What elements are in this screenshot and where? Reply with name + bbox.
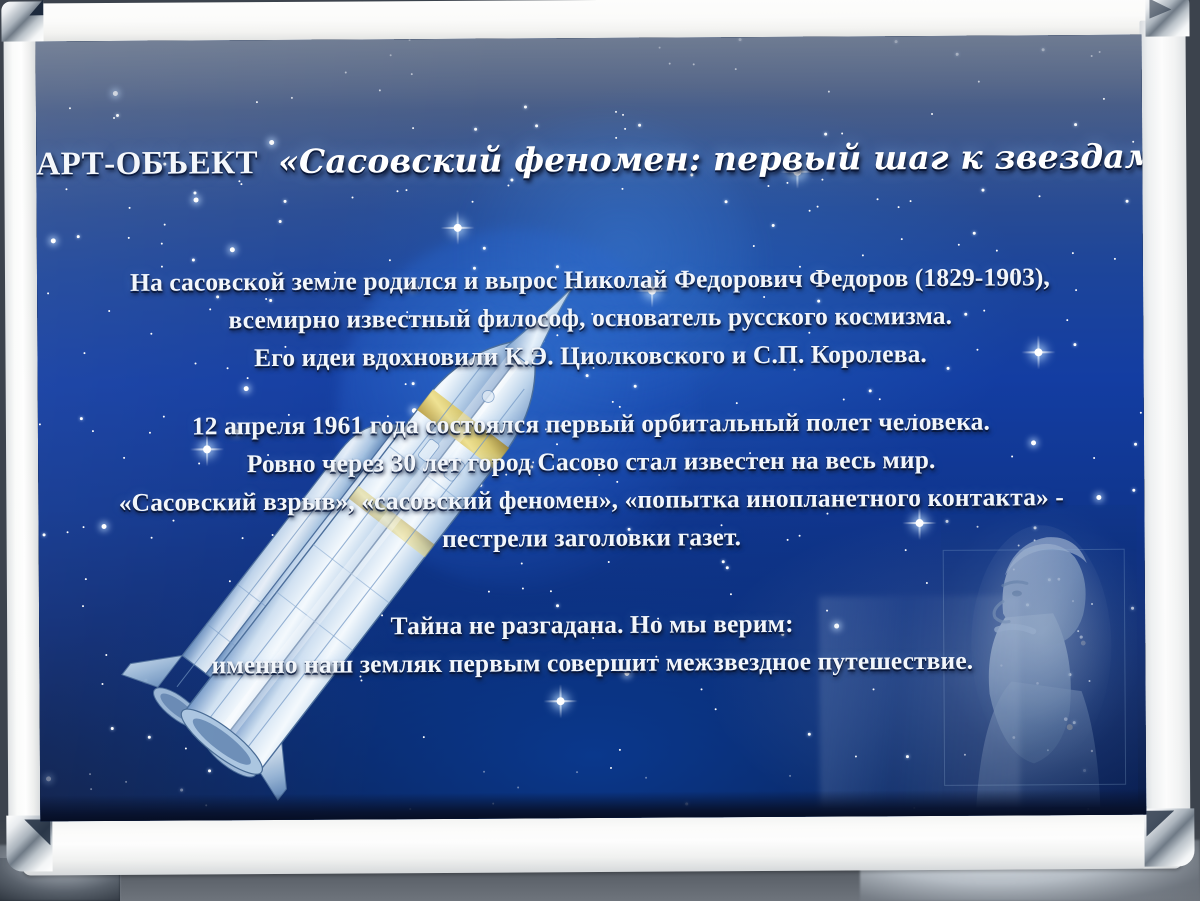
paragraph-event-line-1: 12 апреля 1961 года состоялся первый орб… — [66, 402, 1116, 446]
page-title: АРТ-ОБЪЕКТ «Сасовский феномен: первый ша… — [36, 137, 1142, 184]
paragraph-event-line-4: пестрели заголовки газет. — [66, 516, 1116, 560]
paragraph-intro: На сасовской земле родился и вырос Никол… — [65, 258, 1116, 378]
frame-rail-left — [3, 27, 40, 847]
sign-frame: АРТ-ОБЪЕКТ «Сасовский феномен: первый ша… — [0, 0, 1200, 888]
paragraph-conclusion-line-2: именно наш земляк первым совершит межзве… — [67, 641, 1117, 685]
paragraph-event-line-3: «Сасовский взрыв», «сасовский феномен», … — [66, 478, 1116, 522]
photo-scene: АРТ-ОБЪЕКТ «Сасовский феномен: первый ша… — [0, 0, 1200, 901]
headline-title: «Сасовский феномен: первый шаг к звездам… — [278, 136, 1146, 180]
frame-rail-right — [1139, 20, 1190, 840]
frame-rail-bottom — [22, 812, 1182, 875]
paragraph-event-line-2: Ровно через 30 лет город Сасово стал изв… — [66, 440, 1116, 484]
paragraph-conclusion: Тайна не разгадана. Но мы верим: именно … — [67, 603, 1117, 685]
information-poster: АРТ-ОБЪЕКТ «Сасовский феномен: первый ша… — [36, 35, 1147, 822]
poster-text-layer: АРТ-ОБЪЕКТ «Сасовский феномен: первый ша… — [36, 35, 1147, 822]
paragraph-intro-line-1: На сасовской земле родился и вырос Никол… — [65, 258, 1115, 302]
paragraph-intro-line-3: Его идеи вдохновили К.Э. Циолковского и … — [65, 334, 1115, 378]
paragraph-conclusion-line-1: Тайна не разгадана. Но мы верим: — [67, 603, 1117, 647]
paragraph-intro-line-2: всемирно известный философ, основатель р… — [65, 296, 1115, 340]
headline-label: АРТ-ОБЪЕКТ — [36, 145, 258, 182]
paragraph-event: 12 апреля 1961 года состоялся первый орб… — [66, 402, 1117, 560]
